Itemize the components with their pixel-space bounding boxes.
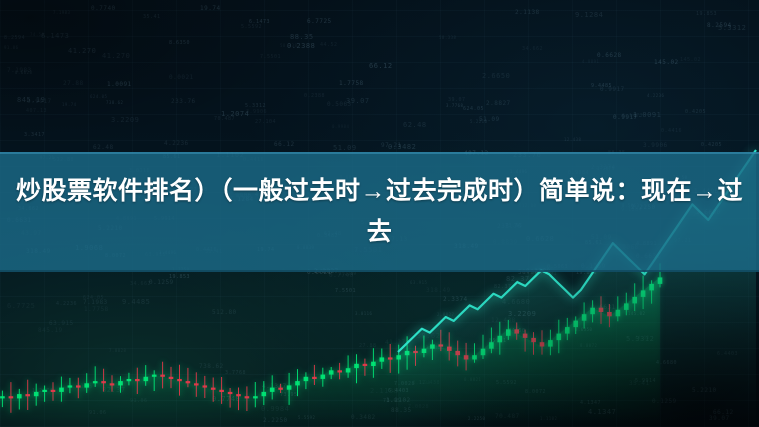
band-bottom-edge — [0, 270, 759, 272]
band-top-edge — [0, 152, 759, 154]
screenshot-root: 0.34821.207488.350.002112.4387.55013.220… — [0, 0, 759, 427]
banner-title: 炒股票软件排名）（一般过去时→过去完成时）简单说：现在→过去 — [0, 171, 759, 253]
title-banner: 炒股票软件排名）（一般过去时→过去完成时）简单说：现在→过去 — [0, 152, 759, 272]
